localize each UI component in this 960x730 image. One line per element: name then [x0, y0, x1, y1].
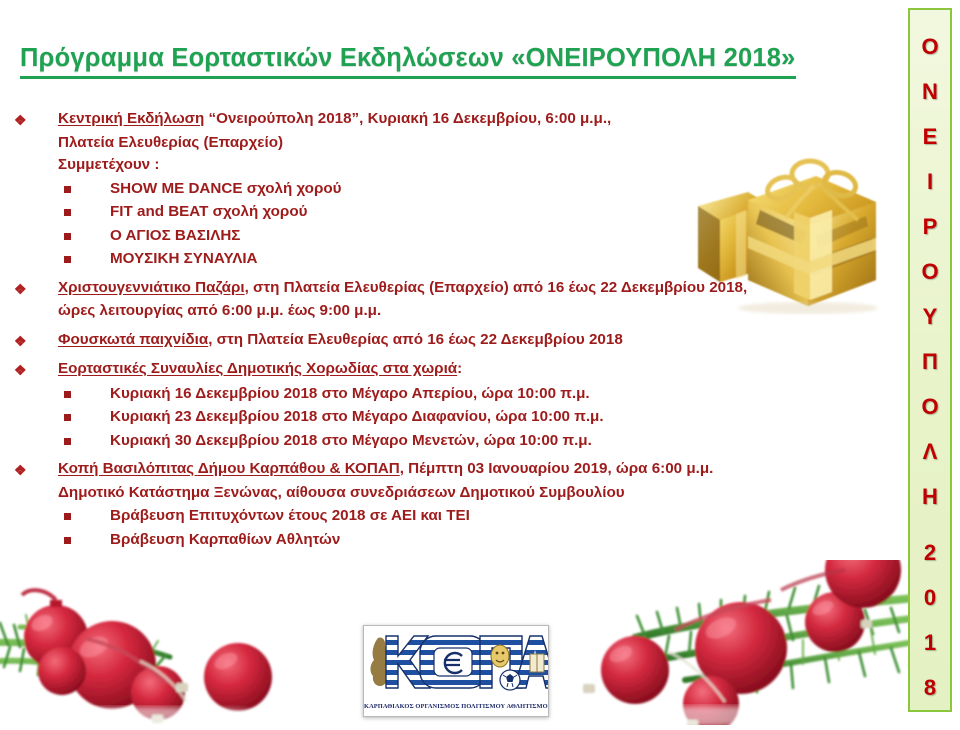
list-item-continuation: ώρες λειτουργίας από 6:00 μ.μ. έως 9:00 … — [0, 300, 905, 323]
list-item-text: “Ονειρούπολη 2018”, Κυριακή 16 Δεκεμβρίο… — [204, 110, 611, 127]
list-item-text: Βράβευση Επιτυχόντων έτους 2018 σε ΑΕΙ κ… — [110, 507, 470, 524]
banner-year-digit: 0 — [924, 575, 936, 620]
banner-year-digit: 8 — [924, 665, 936, 710]
soccer-ball-icon — [500, 670, 520, 690]
list-item-highlight: Κοπή Βασιλόπιτας Δήμου Καρπάθου & ΚΟΠΑΠ — [58, 460, 400, 477]
banner-letter: Ν — [922, 69, 938, 114]
list-item-secondary: Βράβευση Καρπαθίων Αθλητών — [0, 528, 905, 552]
vertical-banner: Ο Ν Ε Ι Ρ Ο Υ Π Ο Λ Η 2 0 1 8 — [908, 8, 952, 712]
list-item-text: , στη Πλατεία Ελευθερίας (Επαρχείο) από … — [245, 279, 748, 296]
list-item-text: Βράβευση Καρπαθίων Αθλητών — [110, 531, 340, 548]
banner-letter: Υ — [923, 294, 938, 339]
banner-letter: Ε — [923, 114, 938, 159]
list-item-primary: ❖Κοπή Βασιλόπιτας Δήμου Καρπάθου & ΚΟΠΑΠ… — [0, 458, 905, 481]
banner-letter: Ι — [927, 159, 933, 204]
banner-letter: Ρ — [923, 204, 938, 249]
diamond-bullet-icon: ❖ — [14, 359, 27, 382]
diamond-bullet-icon: ❖ — [14, 459, 27, 482]
list-item-text: SHOW ME DANCE σχολή χορού — [110, 180, 341, 197]
list-item-secondary: Κυριακή 30 Δεκεμβρίου 2018 στο Μέγαρο Με… — [0, 429, 905, 453]
banner-letter: Π — [922, 339, 938, 384]
banner-year-digit: 2 — [924, 530, 936, 575]
euro-icon — [444, 653, 462, 673]
square-bullet-icon — [64, 186, 71, 193]
square-bullet-icon — [64, 537, 71, 544]
banner-letter: Ο — [921, 384, 938, 429]
program-item: ❖Χριστουγεννιάτικο Παζάρι, στη Πλατεία Ε… — [0, 277, 905, 323]
bottom-right-christmas-decoration — [545, 560, 915, 725]
list-item-primary: ❖Χριστουγεννιάτικο Παζάρι, στη Πλατεία Ε… — [0, 277, 905, 300]
diamond-bullet-icon: ❖ — [14, 278, 27, 301]
list-item-secondary: Κυριακή 23 Δεκεμβρίου 2018 στο Μέγαρο Δι… — [0, 405, 905, 429]
list-item-secondary: ΜΟΥΣΙΚΗ ΣΥΝΑΥΛΙΑ — [0, 247, 905, 271]
square-bullet-icon — [64, 438, 71, 445]
list-item-text: Κυριακή 23 Δεκεμβρίου 2018 στο Μέγαρο Δι… — [110, 408, 604, 425]
list-item-continuation: Πλατεία Ελευθερίας (Επαρχείο) — [0, 132, 905, 155]
list-item-text: Κυριακή 30 Δεκεμβρίου 2018 στο Μέγαρο Με… — [110, 432, 592, 449]
list-item-continuation: Δημοτικό Κατάστημα Ξενώνας, αίθουσα συνε… — [0, 482, 905, 505]
square-bullet-icon — [64, 414, 71, 421]
list-item-text: Κυριακή 16 Δεκεμβρίου 2018 στο Μέγαρο Απ… — [110, 385, 590, 402]
list-item-continuation: Συμμετέχουν : — [0, 154, 905, 177]
list-item-primary: ❖Φουσκωτά παιχνίδια, στη Πλατεία Ελευθερ… — [0, 329, 905, 352]
list-item-highlight: Κεντρική Εκδήλωση — [58, 110, 204, 127]
square-bullet-icon — [64, 233, 71, 240]
kopap-logo-subtitle: ΚΑΡΠΑΘΙΑΚΟΣ ΟΡΓΑΝΙΣΜΟΣ ΠΟΛΙΤΙΣΜΟΥ ΑΘΛΗΤΙ… — [364, 703, 549, 710]
program-item: ❖Εορταστικές Συναυλίες Δημοτικής Χορωδία… — [0, 358, 905, 452]
list-item-secondary: Κυριακή 16 Δεκεμβρίου 2018 στο Μέγαρο Απ… — [0, 382, 905, 406]
page-title-wrap: Πρόγραμμα Εορταστικών Εκδηλώσεων «ΟΝΕΙΡΟ… — [20, 44, 900, 79]
program-item: ❖Κεντρική Εκδήλωση “Ονειρούπολη 2018”, Κ… — [0, 108, 905, 271]
list-item-text: , στη Πλατεία Ελευθερίας από 16 έως 22 Δ… — [208, 331, 623, 348]
list-item-text: FIT and BEAT σχολή χορού — [110, 203, 307, 220]
list-item-highlight: Χριστουγεννιάτικο Παζάρι — [58, 279, 245, 296]
program-list: ❖Κεντρική Εκδήλωση “Ονειρούπολη 2018”, Κ… — [0, 108, 905, 551]
list-item-secondary: Ο ΑΓΙΟΣ ΒΑΣΙΛΗΣ — [0, 224, 905, 248]
book-icon — [530, 654, 544, 672]
square-bullet-icon — [64, 513, 71, 520]
square-bullet-icon — [64, 209, 71, 216]
banner-year-digit: 1 — [924, 620, 936, 665]
banner-letter: Ο — [921, 249, 938, 294]
banner-letter: Λ — [923, 429, 938, 474]
diamond-bullet-icon: ❖ — [14, 330, 27, 353]
list-item-secondary: Βράβευση Επιτυχόντων έτους 2018 σε ΑΕΙ κ… — [0, 504, 905, 528]
program-item: ❖Κοπή Βασιλόπιτας Δήμου Καρπάθου & ΚΟΠΑΠ… — [0, 458, 905, 551]
list-item-secondary: SHOW ME DANCE σχολή χορού — [0, 177, 905, 201]
theatre-masks-icon — [491, 645, 509, 667]
list-item-primary: ❖Κεντρική Εκδήλωση “Ονειρούπολη 2018”, Κ… — [0, 108, 905, 131]
list-item-highlight: Εορταστικές Συναυλίες Δημοτικής Χορωδίας… — [58, 360, 457, 377]
square-bullet-icon — [64, 256, 71, 263]
list-item-text: : — [457, 360, 462, 377]
program-item: ❖Φουσκωτά παιχνίδια, στη Πλατεία Ελευθερ… — [0, 329, 905, 352]
list-item-text: Ο ΑΓΙΟΣ ΒΑΣΙΛΗΣ — [110, 227, 240, 244]
list-item-text: , Πέμπτη 03 Ιανουαρίου 2019, ώρα 6:00 μ.… — [400, 460, 714, 477]
square-bullet-icon — [64, 391, 71, 398]
list-item-text: ΜΟΥΣΙΚΗ ΣΥΝΑΥΛΙΑ — [110, 250, 258, 267]
banner-letter: Η — [922, 474, 938, 519]
banner-letter: Ο — [921, 24, 938, 69]
kopap-logo: ΚΑΡΠΑΘΙΑΚΟΣ ΟΡΓΑΝΙΣΜΟΣ ΠΟΛΙΤΙΣΜΟΥ ΑΘΛΗΤΙ… — [363, 625, 549, 717]
list-item-highlight: Φουσκωτά παιχνίδια — [58, 331, 208, 348]
list-item-primary: ❖Εορταστικές Συναυλίες Δημοτικής Χορωδία… — [0, 358, 905, 381]
page-title: Πρόγραμμα Εορταστικών Εκδηλώσεων «ΟΝΕΙΡΟ… — [20, 44, 796, 79]
list-item-secondary: FIT and BEAT σχολή χορού — [0, 200, 905, 224]
diamond-bullet-icon: ❖ — [14, 109, 27, 132]
bottom-left-christmas-decoration — [0, 565, 370, 725]
kopap-logo-mark — [364, 630, 549, 694]
